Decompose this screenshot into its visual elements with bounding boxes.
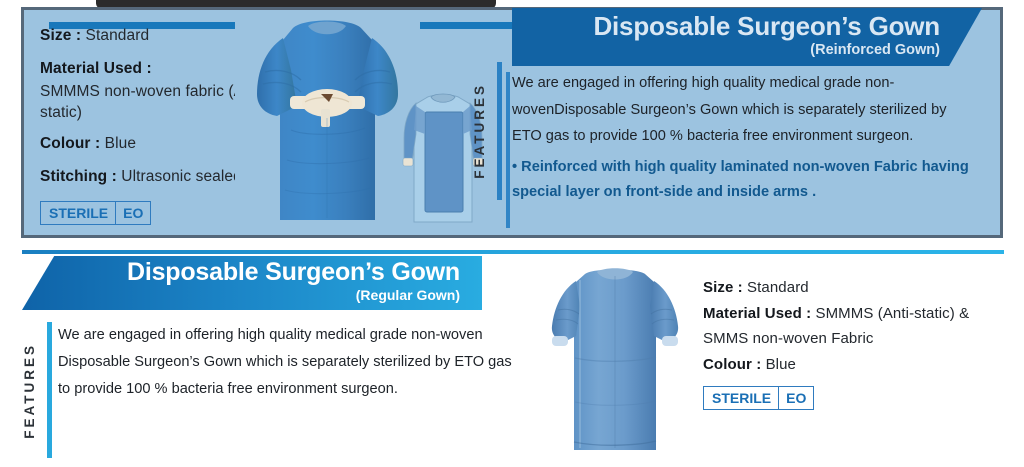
sterile-badge-top-label: STERILE — [41, 202, 115, 224]
bottom-spec-colour: Colour : Blue — [703, 353, 1003, 377]
reinforced-gown-subtitle: (Reinforced Gown) — [512, 42, 940, 59]
surgeon-wearing-gown-photo — [235, 10, 420, 228]
features-rule-top — [497, 62, 502, 200]
sterile-badge-bottom-wrap: STERILE EO — [703, 386, 1003, 410]
bottom-panel-top-line — [22, 250, 1004, 254]
features-label-top: FEATURES — [472, 83, 487, 179]
spec-stitching-value: Ultrasonic sealed — [117, 168, 242, 185]
bottom-spec-list: Size : Standard Material Used : SMMMS (A… — [703, 276, 1003, 410]
bottom-spec-colour-key: Colour : — [703, 356, 761, 373]
bottom-spec-material-key: Material Used : — [703, 305, 811, 322]
bottom-spec-material: Material Used : SMMMS (Anti-static) & SM… — [703, 302, 1003, 351]
features-label-top-wrap: FEATURES — [472, 62, 487, 200]
spec-colour-value: Blue — [100, 135, 136, 152]
sterile-badge-top-method: EO — [115, 202, 150, 224]
features-label-bottom-wrap: FEATURES — [22, 325, 37, 457]
spec-stitching-key: Stitching : — [40, 168, 117, 185]
bottom-spec-size: Size : Standard — [703, 276, 1003, 300]
sterile-badge-bottom-label: STERILE — [704, 387, 778, 409]
reinforced-gown-description: We are engaged in offering high quality … — [512, 70, 978, 205]
reinforced-gown-title: Disposable Surgeon’s Gown — [512, 13, 940, 41]
spec-material-key: Material Used : — [40, 60, 152, 77]
reinforced-gown-highlight: • Reinforced with high quality laminated… — [512, 155, 978, 205]
bottom-spec-size-key: Size : — [703, 279, 743, 296]
spec-size-key: Size : — [40, 27, 81, 44]
regular-gown-body-text: We are engaged in offering high quality … — [58, 322, 518, 403]
features-rule-bottom — [47, 322, 52, 458]
sterile-badge-bottom-method: EO — [778, 387, 813, 409]
blue-surgical-gown-photo — [540, 262, 690, 462]
features-label-bottom: FEATURES — [22, 343, 37, 439]
regular-gown-title: Disposable Surgeon’s Gown — [22, 259, 460, 287]
reinforced-gown-banner: Disposable Surgeon’s Gown (Reinforced Go… — [512, 8, 982, 66]
sterile-badge-top: STERILE EO — [40, 201, 151, 225]
sterile-badge-bottom: STERILE EO — [703, 386, 814, 410]
reinforced-gown-body-text: We are engaged in offering high quality … — [512, 70, 978, 150]
top-body-rule — [506, 72, 510, 228]
regular-gown-banner: Disposable Surgeon’s Gown (Regular Gown) — [22, 256, 482, 310]
spec-size-value: Standard — [81, 27, 149, 44]
bottom-spec-size-value: Standard — [743, 279, 809, 296]
spec-colour-key: Colour : — [40, 135, 100, 152]
regular-gown-description: We are engaged in offering high quality … — [58, 322, 518, 403]
regular-gown-subtitle: (Regular Gown) — [22, 287, 460, 304]
bottom-spec-colour-value: Blue — [761, 356, 796, 373]
